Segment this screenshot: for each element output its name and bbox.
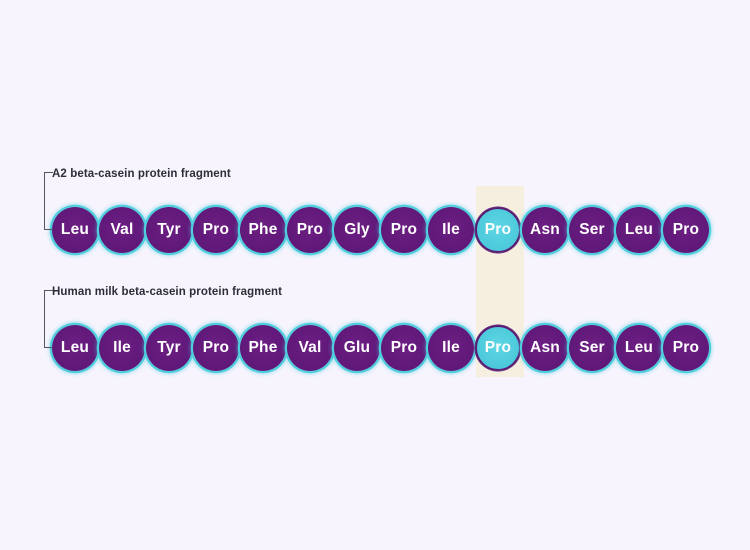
residue-label: Pro — [485, 222, 511, 238]
residue-bead: Leu — [52, 325, 98, 371]
residue-bead: Leu — [616, 207, 662, 253]
residue-label: Phe — [248, 340, 277, 356]
residue-bead: Tyr — [146, 325, 192, 371]
residue-label: Ile — [113, 340, 131, 356]
residue-label: Ser — [579, 222, 605, 238]
residue-label: Pro — [485, 340, 511, 356]
residue-bead: Pro — [287, 207, 333, 253]
residue-label: Leu — [625, 222, 653, 238]
residue-bead: Val — [99, 207, 145, 253]
residue-label: Pro — [391, 340, 417, 356]
residue-label: Pro — [203, 222, 229, 238]
residue-bead: Phe — [240, 207, 286, 253]
residue-list: LeuIleTyrProPheValGluProIleProAsnSerLeuP… — [52, 325, 710, 371]
residue-label: Asn — [530, 222, 560, 238]
residue-bead: Phe — [240, 325, 286, 371]
residue-bead: Ile — [428, 207, 474, 253]
residue-bead: Glu — [334, 325, 380, 371]
residue-bead: Ile — [99, 325, 145, 371]
residue-bead: Ser — [569, 325, 615, 371]
residue-label: Gly — [344, 222, 370, 238]
residue-label: Ile — [442, 222, 460, 238]
residue-label: Pro — [203, 340, 229, 356]
residue-label: Pro — [673, 340, 699, 356]
residue-label: Val — [298, 340, 321, 356]
residue-bead: Ser — [569, 207, 615, 253]
residue-label: Asn — [530, 340, 560, 356]
residue-label: Ile — [442, 340, 460, 356]
residue-bead: Tyr — [146, 207, 192, 253]
row-bracket-icon — [44, 290, 53, 348]
residue-label: Pro — [391, 222, 417, 238]
sequence-row-label: A2 beta-casein protein fragment — [52, 168, 231, 180]
residue-list: LeuValTyrProPheProGlyProIleProAsnSerLeuP… — [52, 207, 710, 253]
residue-label: Glu — [344, 340, 370, 356]
residue-label: Tyr — [157, 340, 181, 356]
residue-label: Pro — [673, 222, 699, 238]
residue-label: Val — [110, 222, 133, 238]
residue-label: Pro — [297, 222, 323, 238]
sequence-row-label: Human milk beta-casein protein fragment — [52, 286, 282, 298]
residue-label: Ser — [579, 340, 605, 356]
residue-label: Leu — [61, 222, 89, 238]
residue-bead-highlighted: Pro — [475, 207, 521, 253]
residue-bead: Asn — [522, 325, 568, 371]
residue-bead: Pro — [381, 325, 427, 371]
residue-bead: Gly — [334, 207, 380, 253]
residue-bead: Ile — [428, 325, 474, 371]
residue-bead: Leu — [52, 207, 98, 253]
residue-label: Phe — [248, 222, 277, 238]
residue-bead: Val — [287, 325, 333, 371]
residue-label: Leu — [61, 340, 89, 356]
residue-bead: Pro — [381, 207, 427, 253]
residue-bead: Leu — [616, 325, 662, 371]
residue-bead: Pro — [193, 325, 239, 371]
residue-bead: Pro — [663, 207, 709, 253]
row-bracket-icon — [44, 172, 53, 230]
protein-sequence-diagram: A2 beta-casein protein fragment LeuValTy… — [0, 0, 750, 550]
residue-bead-highlighted: Pro — [475, 325, 521, 371]
residue-bead: Pro — [193, 207, 239, 253]
residue-bead: Asn — [522, 207, 568, 253]
residue-label: Tyr — [157, 222, 181, 238]
residue-bead: Pro — [663, 325, 709, 371]
residue-label: Leu — [625, 340, 653, 356]
